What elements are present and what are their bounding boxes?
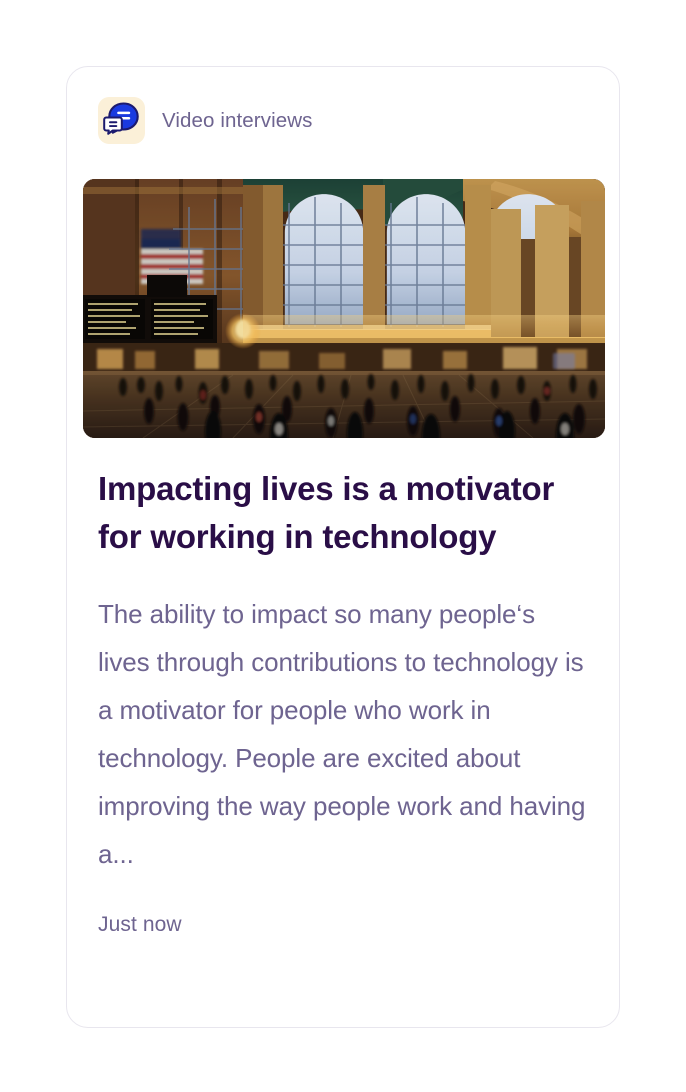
article-excerpt: The ability to impact so many people‘s l… <box>98 561 592 878</box>
article-timestamp: Just now <box>98 878 598 938</box>
article-card[interactable]: Video interviews <box>66 66 620 1028</box>
card-body: Impacting lives is a motivator for worki… <box>98 465 598 938</box>
page-root: Video interviews <box>0 0 686 1092</box>
card-header: Video interviews <box>98 97 313 144</box>
channel-label: Video interviews <box>162 109 313 133</box>
hero-photo[interactable] <box>83 179 605 438</box>
article-headline[interactable]: Impacting lives is a motivator for worki… <box>98 465 594 561</box>
chat-bubbles-icon <box>98 97 145 144</box>
